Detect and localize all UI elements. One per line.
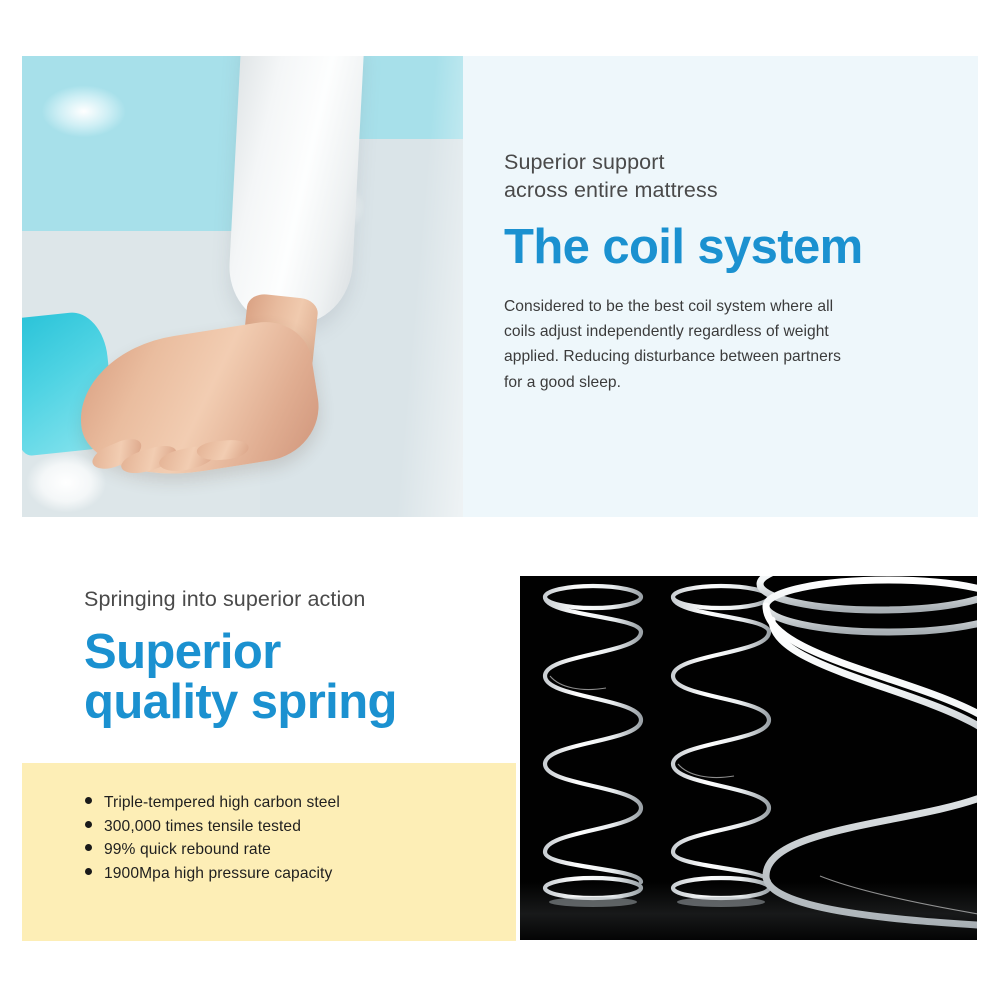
top-copy-block: Superior support across entire mattress … [504, 148, 914, 395]
list-item: 300,000 times tensile tested [85, 818, 340, 837]
bullet-label: 99% quick rebound rate [104, 841, 271, 860]
top-body-copy: Considered to be the best coil system wh… [504, 294, 914, 395]
spring-left [545, 586, 641, 898]
bottom-headline: Superior quality spring [84, 628, 514, 728]
pocket-springs-photo [22, 56, 463, 517]
bullet-label: Triple-tempered high carbon steel [104, 794, 340, 813]
body-line-4: for a good sleep. [504, 374, 621, 391]
spring-middle [673, 586, 769, 898]
bullet-dot-icon [85, 821, 92, 828]
body-line-2: coils adjust independently regardless of… [504, 323, 829, 340]
list-item: 1900Mpa high pressure capacity [85, 865, 340, 884]
product-feature-page: Superior support across entire mattress … [0, 0, 1000, 1000]
bottom-kicker: Springing into superior action [84, 586, 514, 614]
coil-springs-black-photo [520, 576, 977, 940]
bottom-headline-line2: quality spring [84, 675, 397, 729]
list-item: 99% quick rebound rate [85, 841, 340, 860]
feature-bullet-list: Triple-tempered high carbon steel 300,00… [85, 794, 340, 889]
top-kicker-line2: across entire mattress [504, 178, 718, 202]
bullet-dot-icon [85, 844, 92, 851]
body-line-3: applied. Reducing disturbance between pa… [504, 348, 841, 365]
top-feature-panel: Superior support across entire mattress … [22, 56, 978, 517]
bullet-label: 1900Mpa high pressure capacity [104, 865, 332, 884]
list-item: Triple-tempered high carbon steel [85, 794, 340, 813]
bottom-copy-block: Springing into superior action Superior … [84, 586, 514, 728]
top-kicker: Superior support across entire mattress [504, 148, 914, 205]
features-cream-panel: Triple-tempered high carbon steel 300,00… [22, 763, 516, 941]
body-line-1: Considered to be the best coil system wh… [504, 298, 833, 315]
bullet-dot-icon [85, 797, 92, 804]
floor-reflection-glow [520, 882, 977, 940]
bottom-headline-line1: Superior [84, 625, 281, 679]
top-headline: The coil system [504, 223, 914, 272]
bullet-label: 300,000 times tensile tested [104, 818, 301, 837]
spring-large-closeup [760, 576, 977, 928]
top-kicker-line1: Superior support [504, 150, 665, 174]
bullet-dot-icon [85, 868, 92, 875]
photo-edge-fade [22, 56, 463, 517]
